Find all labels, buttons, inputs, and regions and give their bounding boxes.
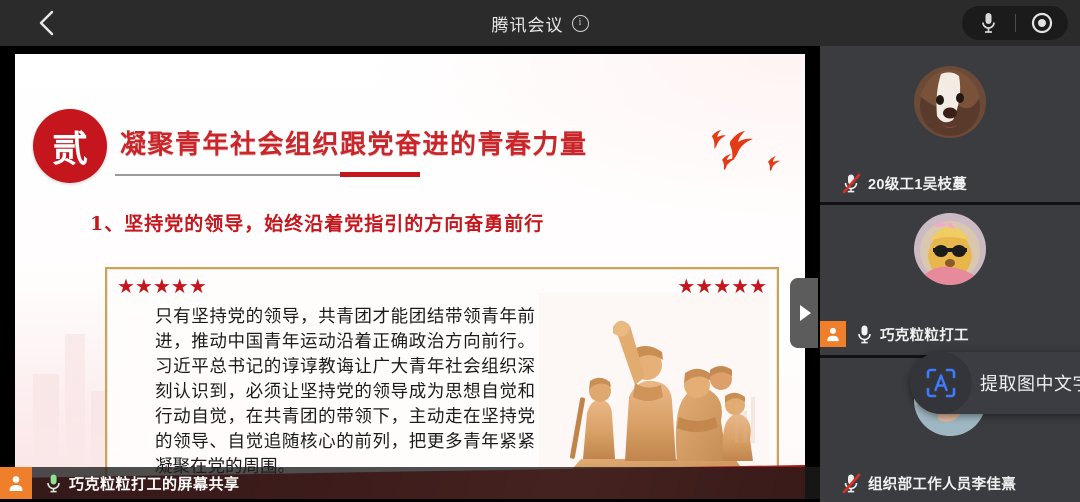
participant-name: 组织部工作人员李佳熹: [868, 473, 1016, 494]
flying-birds-decoration: [690, 116, 800, 196]
shared-screen-area[interactable]: 贰 凝聚青年社会组织跟党奋进的青春力量 1、坚持党的领导，始终沿着党指引的方向奋…: [0, 46, 820, 499]
panel-expand-handle[interactable]: [790, 278, 818, 348]
text-scan-icon: [924, 366, 958, 400]
info-icon[interactable]: i: [572, 15, 589, 32]
meeting-title-group: 腾讯会议 i: [0, 0, 1080, 46]
title-underline-accent: [340, 172, 420, 177]
mic-button[interactable]: [962, 6, 1015, 40]
participant-tile[interactable]: 巧克粒粒打工: [820, 205, 1080, 358]
screen-share-status-bar: 巧克粒粒打工的屏幕共享: [0, 467, 820, 499]
host-person-glyph: [825, 326, 841, 342]
slide-body-text: 只有坚持党的领导，共青团才能团结带领青年前进，推动中国青年运动沿着正确政治方向前…: [155, 305, 535, 480]
page-title: 腾讯会议: [492, 11, 564, 36]
microphone-active-icon: [46, 473, 61, 494]
dog-photo-avatar-icon: [914, 66, 986, 138]
expand-arrow-right-icon: [800, 305, 811, 321]
avatar: [914, 213, 986, 285]
camera-record-icon: [1031, 12, 1053, 34]
birds-icon: [690, 116, 800, 196]
extract-text-button[interactable]: 提取图中文字: [910, 352, 1080, 414]
microphone-icon: [980, 11, 997, 35]
top-bar: 腾讯会议 i: [0, 0, 1080, 46]
section-badge: 贰: [33, 109, 107, 183]
microphone-active-icon: [856, 324, 873, 345]
camera-button[interactable]: [1016, 6, 1069, 40]
content-card: ★★★★★ ★★★★★ 只有坚持党的领导，共青团才能团结带领青年前进，推动中国青…: [105, 267, 779, 496]
participant-name-row: 20级工1吴枝蔓: [820, 173, 1080, 194]
stars-left: ★★★★★: [117, 277, 207, 299]
extract-text-label: 提取图中文字: [980, 370, 1080, 396]
presentation-slide: 贰 凝聚青年社会组织跟党奋进的青春力量 1、坚持党的领导，始终沿着党指引的方向奋…: [15, 54, 805, 499]
microphone-muted-icon: [842, 473, 861, 494]
text-scan-icon-wrap: [910, 352, 972, 414]
cartoon-dog-avatar-icon: [914, 213, 986, 285]
slide-title: 凝聚青年社会组织跟党奋进的青春力量: [120, 124, 588, 161]
participant-name-row: 组织部工作人员李佳熹: [820, 473, 1080, 494]
host-person-icon: [820, 321, 846, 347]
meeting-screen: 腾讯会议 i: [0, 0, 1080, 499]
monument-sculpture-icon: [539, 293, 769, 488]
participant-name: 巧克粒粒打工: [880, 324, 969, 345]
host-person-icon: [0, 467, 32, 499]
section-badge-text: 贰: [52, 120, 88, 172]
host-person-glyph: [7, 474, 25, 492]
slide-subtitle: 1、坚持党的领导，始终沿着党指引的方向奋勇前行: [90, 209, 544, 236]
screen-share-owner-label: 巧克粒粒打工的屏幕共享: [69, 473, 240, 494]
monument-image: [539, 293, 769, 488]
participant-tile[interactable]: 20级工1吴枝蔓: [820, 46, 1080, 205]
avatar: [914, 66, 986, 138]
participant-rail: 20级工1吴枝蔓: [820, 46, 1080, 499]
top-right-controls: [962, 6, 1068, 40]
microphone-muted-icon: [842, 173, 861, 194]
participant-name-row: 巧克粒粒打工: [820, 321, 1080, 347]
participant-name: 20级工1吴枝蔓: [868, 173, 967, 194]
